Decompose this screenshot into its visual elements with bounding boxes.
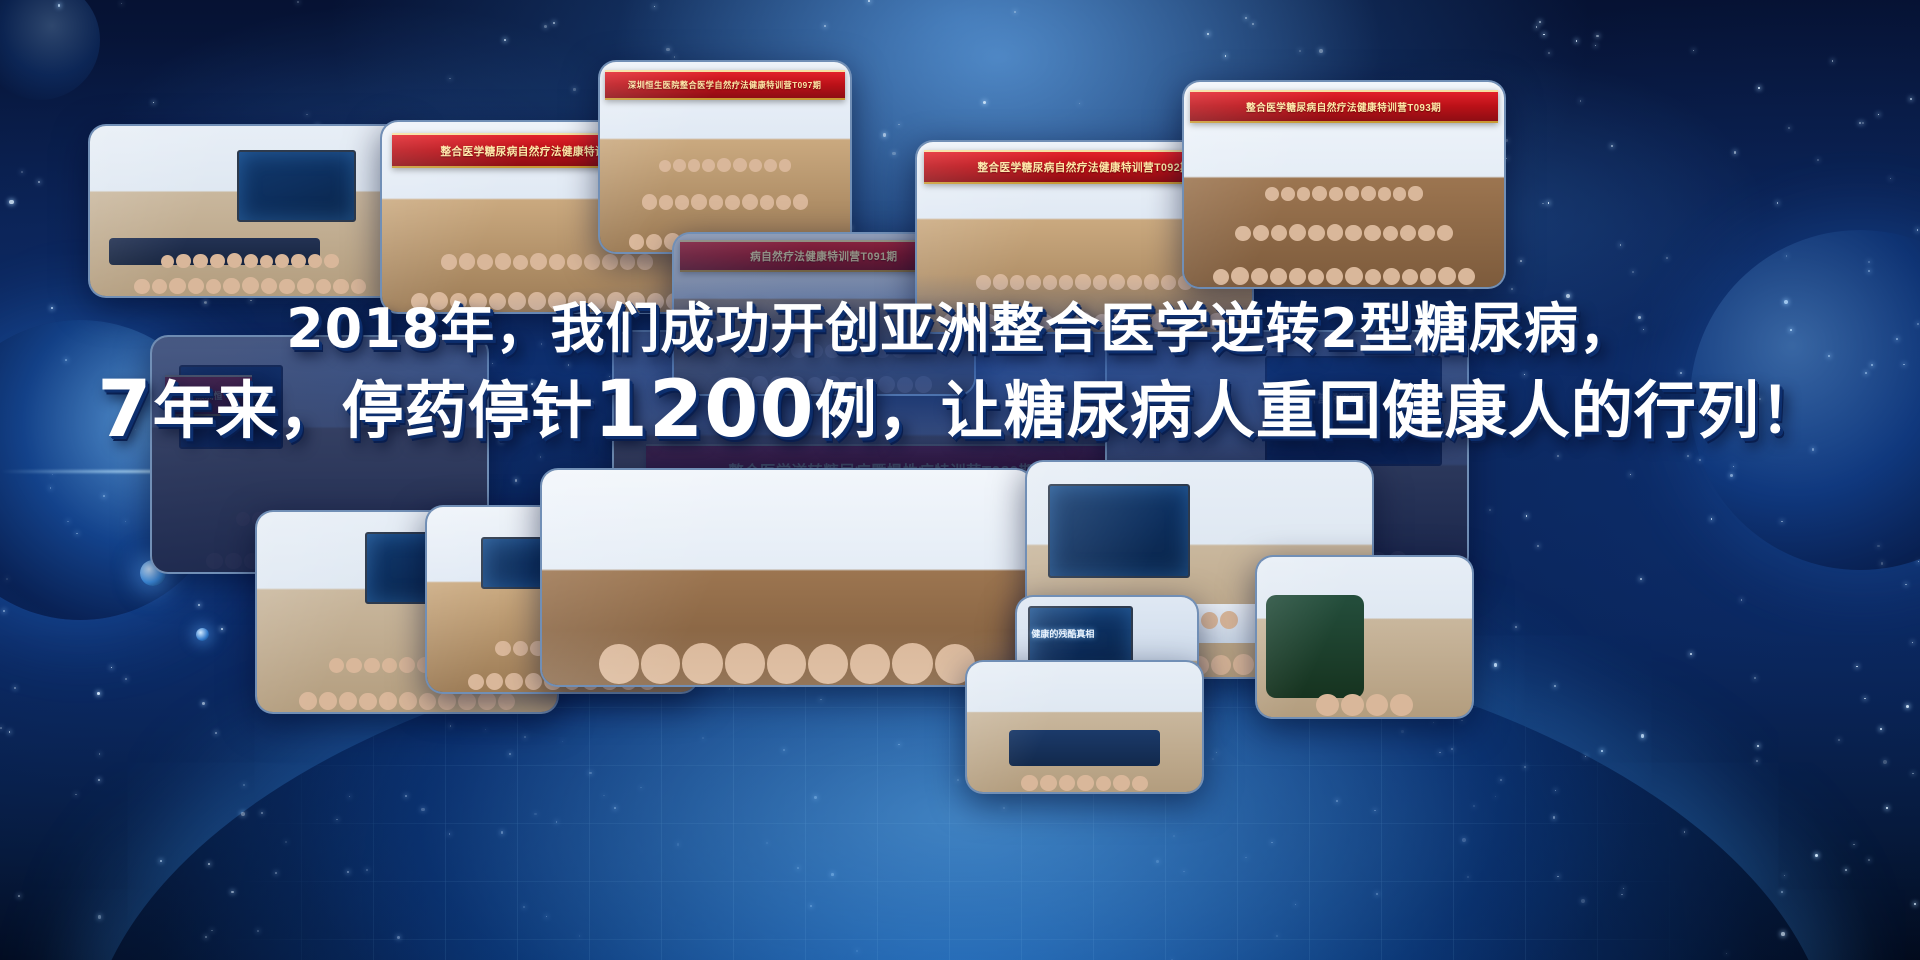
photo-image [90, 126, 410, 296]
photo-team-stage[interactable] [540, 468, 1034, 687]
crowd [90, 167, 410, 296]
slide-caption: 健康的残酷真相 [1031, 627, 1094, 640]
crowd [967, 711, 1202, 792]
poster-canvas: 深圳恒 整合医学逆转糖尿病暨慢性病特训营T089期 糖尿病科普讲座现场 [0, 0, 1920, 960]
event-banner: 深圳恒 [165, 375, 252, 417]
event-banner: 整合医学糖尿病自然疗法健康特训营T093期 [1190, 90, 1497, 123]
photo-image [1257, 557, 1472, 717]
crowd [600, 108, 850, 252]
event-banner-text: 深圳恒 [195, 389, 222, 402]
photo-image [542, 470, 1032, 685]
stage-floor-light [542, 629, 1032, 685]
event-banner-text: 整合医学糖尿病自然疗法健康特训营T093期 [1246, 99, 1441, 114]
photo-consult-table[interactable] [965, 660, 1204, 794]
event-banner-text: 整合医学糖尿病自然疗法健康特训营T092期 [978, 159, 1192, 175]
headline-years-number: 7 [97, 365, 152, 455]
photo-group-t093[interactable]: 整合医学糖尿病自然疗法健康特训营T093期 [1182, 80, 1506, 289]
event-banner-text: 深圳恒生医院整合医学自然疗法健康特训营T097期 [628, 79, 821, 91]
photo-group-t097[interactable]: 深圳恒生医院整合医学自然疗法健康特训营T097期 [598, 60, 852, 254]
planet-tiny-icon [196, 628, 209, 641]
photo-patient-care[interactable] [1255, 555, 1474, 719]
event-banner: 深圳恒生医院整合医学自然疗法健康特训营T097期 [605, 70, 845, 101]
photo-image [967, 662, 1202, 792]
photo-image: 深圳恒生医院整合医学自然疗法健康特训营T097期 [600, 62, 850, 252]
planet-top-left-icon [0, 0, 100, 100]
crowd [1184, 131, 1504, 287]
photo-lecture-room-left[interactable] [88, 124, 412, 298]
crowd [1257, 621, 1472, 717]
event-banner-text: 病自然疗法健康特训营T091期 [750, 248, 897, 264]
planet-right-icon [1690, 230, 1920, 570]
photo-image: 整合医学糖尿病自然疗法健康特训营T093期 [1184, 82, 1504, 287]
